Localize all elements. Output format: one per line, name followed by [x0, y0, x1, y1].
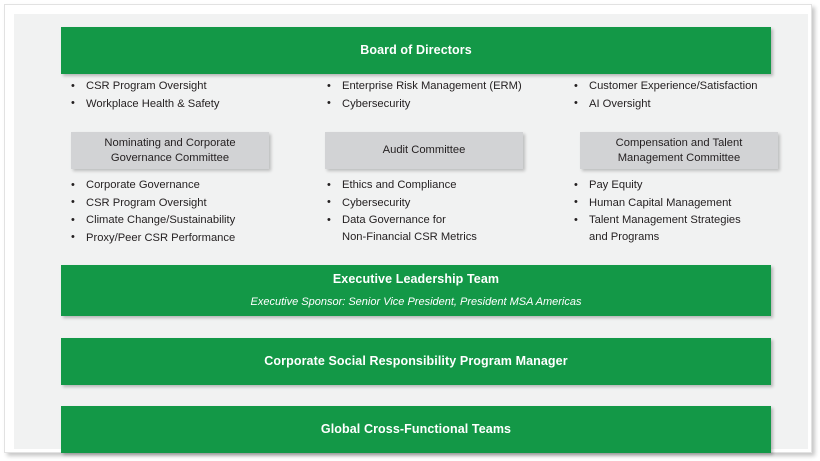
- list-item: CSR Program Oversight: [69, 78, 319, 95]
- bullet-text: CSR Program Oversight: [86, 80, 207, 92]
- bullet-text-continued: and Programs: [589, 229, 807, 246]
- compensation-committee-responsibilities: Pay Equity Human Capital Management Tale…: [572, 177, 807, 246]
- bullet-text: Workplace Health & Safety: [86, 98, 220, 110]
- list-item: Talent Management Strategies and Program…: [572, 212, 807, 245]
- bullet-text: Talent Management Strategies: [589, 214, 741, 226]
- executive-leadership-team-label: Executive Leadership Team: [333, 272, 499, 288]
- board-of-directors-box[interactable]: Board of Directors: [61, 27, 771, 74]
- list-item: Cybersecurity: [325, 195, 555, 212]
- list-item: AI Oversight: [572, 96, 820, 113]
- list-item: Customer Experience/Satisfaction: [572, 78, 820, 95]
- list-item: Enterprise Risk Management (ERM): [325, 78, 575, 95]
- global-cross-functional-teams-label: Global Cross-Functional Teams: [321, 422, 511, 438]
- committee-title: Compensation and Talent Management Commi…: [616, 136, 743, 166]
- list-item: Workplace Health & Safety: [69, 96, 319, 113]
- global-cross-functional-teams-box[interactable]: Global Cross-Functional Teams: [61, 406, 771, 453]
- list-item: Proxy/Peer CSR Performance: [69, 230, 299, 247]
- bullet-text: Human Capital Management: [589, 197, 731, 209]
- csr-program-manager-label: Corporate Social Responsibility Program …: [264, 354, 567, 370]
- committee-title: Nominating and Corporate Governance Comm…: [104, 136, 235, 166]
- list-item: Pay Equity: [572, 177, 807, 194]
- bullet-text: Pay Equity: [589, 179, 642, 191]
- committee-title-line-1: Compensation and Talent: [616, 137, 743, 149]
- list-item: Cybersecurity: [325, 96, 575, 113]
- bullet-text: Corporate Governance: [86, 179, 200, 191]
- bullet-text: CSR Program Oversight: [86, 197, 207, 209]
- committee-title-line-1: Nominating and Corporate: [104, 137, 235, 149]
- committee-title-line-2: Management Committee: [618, 152, 741, 164]
- list-item: Data Governance for Non-Financial CSR Me…: [325, 212, 555, 245]
- list-item: Human Capital Management: [572, 195, 807, 212]
- bullet-text: Cybersecurity: [342, 98, 410, 110]
- bullet-text: Ethics and Compliance: [342, 179, 456, 191]
- committee-title: Audit Committee: [383, 143, 466, 158]
- audit-committee-responsibilities: Ethics and Compliance Cybersecurity Data…: [325, 177, 555, 246]
- list-item: Climate Change/Sustainability: [69, 212, 299, 229]
- committee-title-line-1: Audit Committee: [383, 144, 466, 156]
- board-responsibilities-column-1: CSR Program Oversight Workplace Health &…: [69, 78, 319, 113]
- list-item: Corporate Governance: [69, 177, 299, 194]
- bullet-text: Data Governance for: [342, 214, 446, 226]
- board-responsibilities-column-2: Enterprise Risk Management (ERM) Cyberse…: [325, 78, 575, 113]
- executive-sponsor-label: Executive Sponsor: Senior Vice President…: [251, 295, 582, 309]
- csr-program-manager-box[interactable]: Corporate Social Responsibility Program …: [61, 338, 771, 385]
- committee-title-line-2: Governance Committee: [111, 152, 229, 164]
- bullet-text-continued: Non-Financial CSR Metrics: [342, 229, 555, 246]
- bullet-text: Enterprise Risk Management (ERM): [342, 80, 522, 92]
- audit-committee-box[interactable]: Audit Committee: [325, 132, 523, 169]
- compensation-and-talent-management-committee-box[interactable]: Compensation and Talent Management Commi…: [580, 132, 778, 169]
- board-of-directors-label: Board of Directors: [360, 43, 472, 59]
- nominating-and-corporate-governance-committee-box[interactable]: Nominating and Corporate Governance Comm…: [71, 132, 269, 169]
- bullet-text: Customer Experience/Satisfaction: [589, 80, 758, 92]
- board-responsibilities-column-3: Customer Experience/Satisfaction AI Over…: [572, 78, 820, 113]
- bullet-text: Proxy/Peer CSR Performance: [86, 232, 235, 244]
- executive-leadership-team-box[interactable]: Executive Leadership Team Executive Spon…: [61, 265, 771, 316]
- bullet-text: Climate Change/Sustainability: [86, 214, 235, 226]
- list-item: Ethics and Compliance: [325, 177, 555, 194]
- bullet-text: Cybersecurity: [342, 197, 410, 209]
- list-item: CSR Program Oversight: [69, 195, 299, 212]
- governance-chart-slide: Board of Directors CSR Program Oversight…: [0, 0, 820, 461]
- diagram-canvas: Board of Directors CSR Program Oversight…: [14, 14, 808, 449]
- slide-frame: Board of Directors CSR Program Oversight…: [4, 4, 812, 453]
- nominating-committee-responsibilities: Corporate Governance CSR Program Oversig…: [69, 177, 299, 247]
- bullet-text: AI Oversight: [589, 98, 651, 110]
